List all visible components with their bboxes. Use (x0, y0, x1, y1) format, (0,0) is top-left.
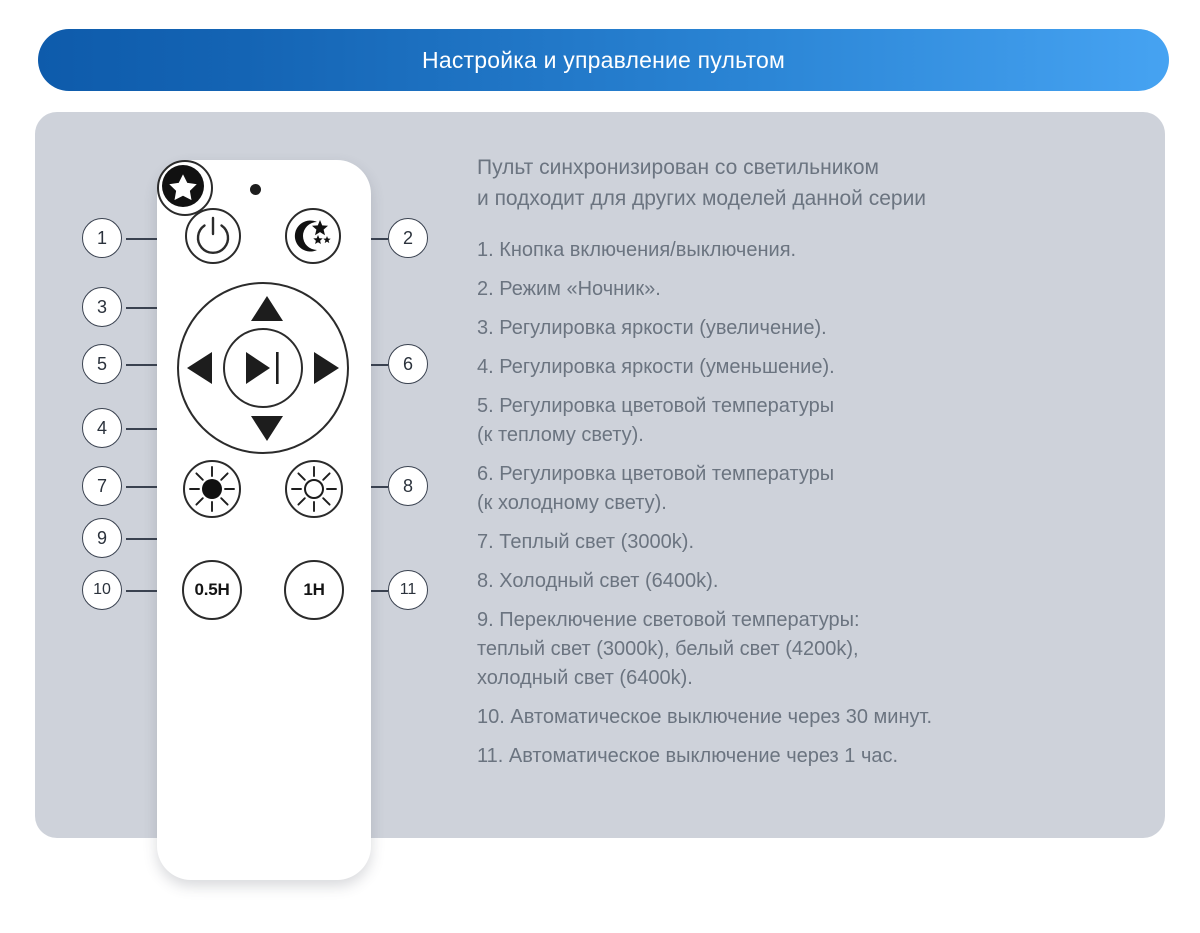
timer-1hour-label: 1H (286, 562, 342, 618)
timer-30min-button[interactable]: 0.5H (182, 560, 242, 620)
callout-label: 6 (403, 354, 413, 375)
page-header-bar: Настройка и управление пультом (38, 29, 1169, 91)
callout-1[interactable]: 1 (82, 218, 122, 258)
callout-3[interactable]: 3 (82, 287, 122, 327)
cool-light-button[interactable] (285, 460, 343, 518)
callout-label: 3 (97, 297, 107, 318)
brightness-down-button[interactable] (251, 416, 283, 441)
timer-30min-label: 0.5H (184, 562, 240, 618)
color-temp-warm-button[interactable] (187, 352, 212, 384)
play-pause-button[interactable] (237, 345, 289, 391)
callout-4[interactable]: 4 (82, 408, 122, 448)
callout-2[interactable]: 2 (388, 218, 428, 258)
list-item: 4. Регулировка яркости (уменьшение). (477, 353, 1137, 382)
callout-5[interactable]: 5 (82, 344, 122, 384)
callout-label: 7 (97, 476, 107, 497)
color-temp-switch-button[interactable] (157, 160, 213, 216)
callout-label: 1 (97, 228, 107, 249)
callout-6[interactable]: 6 (388, 344, 428, 384)
callout-11[interactable]: 11 (388, 570, 428, 610)
star-icon (162, 165, 204, 207)
sun-hollow-icon (287, 462, 341, 516)
description-column: Пульт синхронизирован со светильником и … (477, 152, 1137, 781)
list-item: 8. Холодный свет (6400k). (477, 567, 1137, 596)
callout-label: 8 (403, 476, 413, 497)
callout-10[interactable]: 10 (82, 570, 122, 610)
sun-filled-icon (185, 462, 239, 516)
warm-light-button[interactable] (183, 460, 241, 518)
star-disc (162, 165, 204, 207)
list-item: 7. Теплый свет (3000k). (477, 528, 1137, 557)
ir-led-indicator-icon (250, 184, 261, 195)
callout-9[interactable]: 9 (82, 518, 122, 558)
brightness-up-button[interactable] (251, 296, 283, 321)
list-item: 10. Автоматическое выключение через 30 м… (477, 703, 1137, 732)
callout-label: 2 (403, 228, 413, 249)
callout-label: 11 (400, 581, 417, 599)
list-item: 5. Регулировка цветовой температуры (к т… (477, 392, 1137, 450)
power-button[interactable] (185, 208, 241, 264)
intro-text: Пульт синхронизирован со светильником и … (477, 152, 1137, 214)
callout-label: 9 (97, 528, 107, 549)
color-temp-cool-button[interactable] (314, 352, 339, 384)
page-title: Настройка и управление пультом (422, 47, 785, 74)
callout-label: 5 (97, 354, 107, 375)
list-item: 1. Кнопка включения/выключения. (477, 236, 1137, 265)
list-item: 9. Переключение световой температуры: те… (477, 606, 1137, 693)
callout-7[interactable]: 7 (82, 466, 122, 506)
timer-1hour-button[interactable]: 1H (284, 560, 344, 620)
moon-stars-icon (287, 210, 339, 262)
list-item: 11. Автоматическое выключение через 1 ча… (477, 742, 1137, 771)
power-icon (187, 210, 239, 262)
feature-list: 1. Кнопка включения/выключения. 2. Режим… (477, 236, 1137, 771)
list-item: 2. Режим «Ночник». (477, 275, 1137, 304)
list-item: 3. Регулировка яркости (увеличение). (477, 314, 1137, 343)
callout-label: 10 (93, 581, 111, 599)
remote-control-body: 0.5H 1H (157, 160, 371, 880)
night-mode-button[interactable] (285, 208, 341, 264)
callout-label: 4 (97, 418, 107, 439)
list-item: 6. Регулировка цветовой температуры (к х… (477, 460, 1137, 518)
callout-8[interactable]: 8 (388, 466, 428, 506)
